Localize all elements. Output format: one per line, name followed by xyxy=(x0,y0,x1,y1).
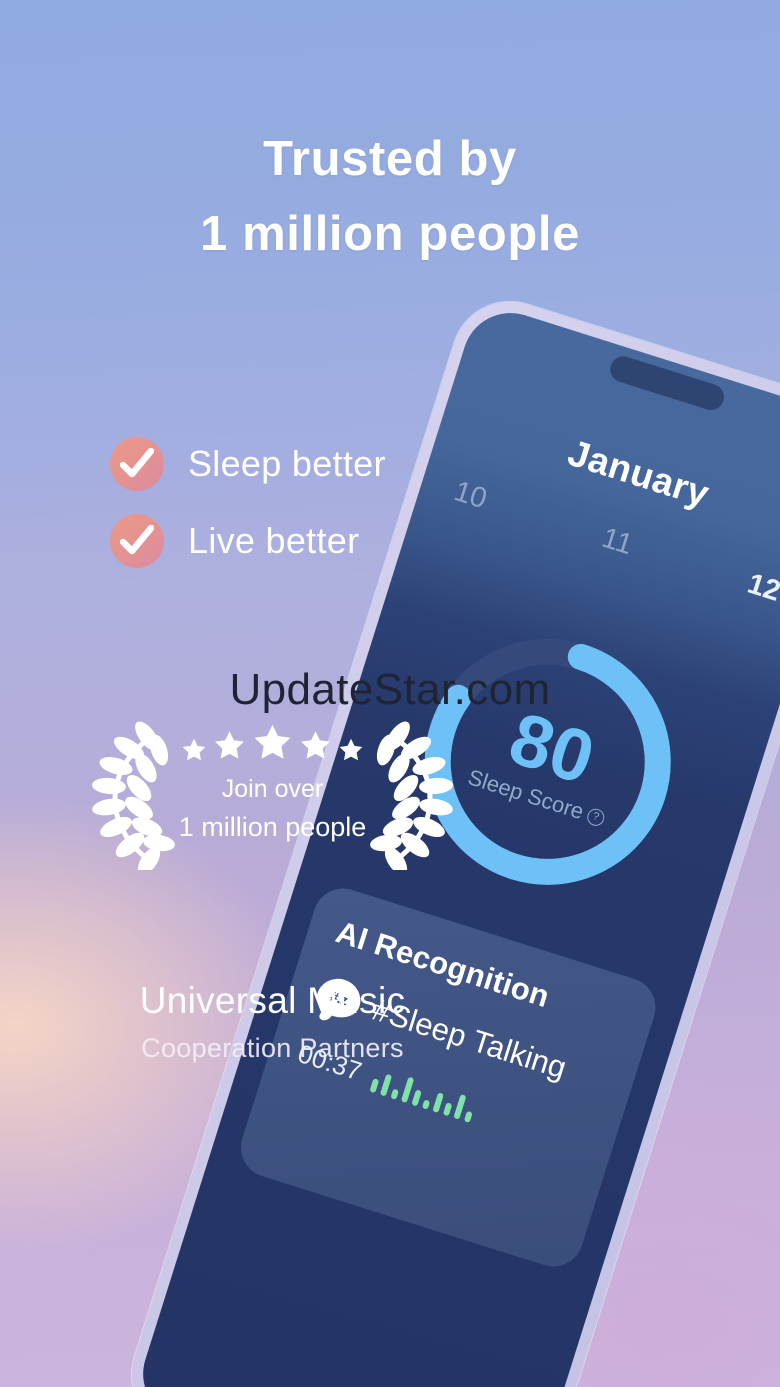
calendar-day[interactable]: 11 xyxy=(598,522,637,563)
award-badge-text: Join over 1 million people xyxy=(85,772,460,846)
headline-line-2: 1 million people xyxy=(0,197,780,272)
ai-recognition-card[interactable]: AI Recognition #.z #Sleep Talking 00:37 xyxy=(233,881,663,1274)
star-rating xyxy=(85,722,460,763)
waveform-bar xyxy=(411,1089,422,1106)
award-badge-line-1: Join over xyxy=(85,772,460,808)
promo-screenshot: January 10 11 12 80 Sleep Score ? xyxy=(0,0,780,1387)
waveform-bar xyxy=(443,1102,453,1116)
check-icon xyxy=(110,514,164,568)
info-circle-icon[interactable]: ? xyxy=(585,806,606,827)
partner-section: Universal Music Cooperation Partners xyxy=(0,980,545,1064)
star-icon xyxy=(213,729,246,762)
partner-subtitle: Cooperation Partners xyxy=(0,1033,545,1064)
list-item: Live better xyxy=(110,514,386,568)
waveform-bar xyxy=(380,1074,392,1097)
award-badge: Join over 1 million people xyxy=(85,710,460,870)
award-badge-line-2: 1 million people xyxy=(85,808,460,846)
star-icon xyxy=(299,729,332,762)
check-icon xyxy=(110,437,164,491)
list-item: Sleep better xyxy=(110,437,386,491)
benefits-list: Sleep better Live better xyxy=(110,437,386,591)
watermark: UpdateStar.com xyxy=(0,665,780,715)
page-title: Trusted by 1 million people xyxy=(0,122,780,273)
headline-line-1: Trusted by xyxy=(263,132,517,186)
waveform-bar xyxy=(369,1078,379,1093)
benefit-label: Sleep better xyxy=(188,443,386,485)
calendar-day[interactable]: 10 xyxy=(450,475,491,516)
waveform-bar xyxy=(432,1092,444,1113)
partner-name: Universal Music xyxy=(0,980,545,1022)
star-icon xyxy=(252,722,293,763)
star-icon xyxy=(181,737,207,763)
audio-waveform xyxy=(369,1063,478,1123)
calendar-day[interactable]: 12 xyxy=(743,568,780,609)
waveform-bar xyxy=(464,1111,473,1123)
star-icon xyxy=(338,737,364,763)
benefit-label: Live better xyxy=(188,520,359,562)
waveform-bar xyxy=(422,1099,430,1109)
waveform-bar xyxy=(390,1089,399,1100)
